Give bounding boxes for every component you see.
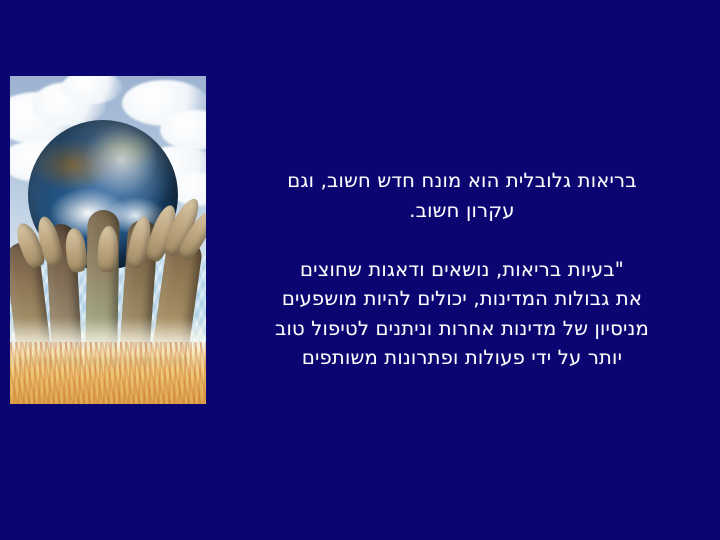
globe-in-hands-image xyxy=(10,76,206,404)
paragraph-2-line-4: יותר על ידי פעולות ופתרונות משותפים xyxy=(236,343,688,373)
paragraph-2-line-3: מניסיון של מדינות אחרות וניתנים לטיפול ט… xyxy=(236,314,688,344)
paragraph-spacer xyxy=(236,225,688,255)
presentation-slide: בריאות גלובלית הוא מונח חדש חשוב, וגם עק… xyxy=(0,0,720,540)
paragraph-2-line-2: את גבולות המדינות, יכולים להיות מושפעים xyxy=(236,284,688,314)
golden-ground xyxy=(10,342,206,404)
paragraph-2-line-1: "בעיות בריאות, נושאים ודאגות שחוצים xyxy=(236,255,688,285)
paragraph-1-line-1: בריאות גלובלית הוא מונח חדש חשוב, וגם xyxy=(236,166,688,196)
slide-body-text: בריאות גלובלית הוא מונח חדש חשוב, וגם עק… xyxy=(236,166,688,373)
paragraph-1-line-2: עקרון חשוב. xyxy=(236,196,688,226)
